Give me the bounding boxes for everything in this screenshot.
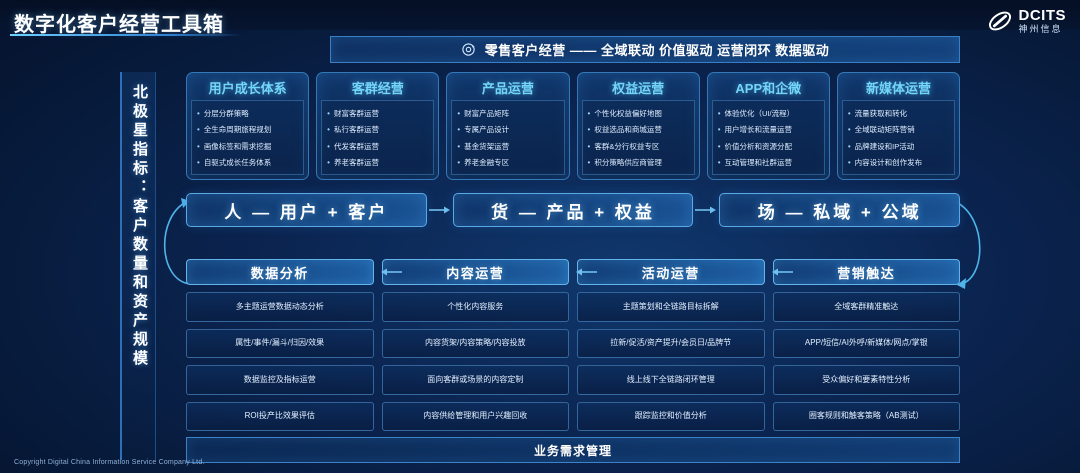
card-item: •分层分群策略: [197, 109, 300, 118]
column-header[interactable]: 数据分析: [186, 259, 374, 285]
capability-card-row: 用户成长体系 •分层分群策略 •全生命周期旅程规划 •画像标签和需求挖掘 •自驱…: [186, 72, 960, 180]
copyright-text: Copyright Digital China Information Serv…: [14, 459, 205, 466]
operations-grid: 数据分析 多主题运营数据动态分析 属性/事件/漏斗/归因/效果 数据监控及指标运…: [186, 259, 960, 431]
grid-cell[interactable]: 属性/事件/漏斗/归因/效果: [186, 329, 374, 359]
grid-cell-label: 全域客群精准触达: [834, 302, 898, 312]
top-banner: 零售客户经营 —— 全域联动 价值驱动 运营闭环 数据驱动: [330, 36, 960, 63]
grid-cell-label: APP/短信/AI外呼/新媒体/网点/掌银: [805, 338, 928, 348]
bullet-icon: •: [718, 125, 721, 134]
card-item: •品牌建设和IP活动: [848, 142, 951, 151]
bullet-icon: •: [457, 109, 460, 118]
capability-card[interactable]: 客群经营 •财富客群运营 •私行客群运营 •代发客群运营 •养老客群运营: [316, 72, 439, 180]
bullet-icon: •: [588, 142, 591, 151]
column-header-label: 内容运营: [446, 263, 504, 282]
capability-card[interactable]: APP和企微 •体验优化（UI/流程） •用户增长和流量运营 •价值分析和资源分…: [707, 72, 830, 180]
card-item-label: 财富产品矩阵: [464, 109, 509, 118]
card-item-label: 画像标签和需求挖掘: [204, 142, 272, 151]
dcits-swirl-icon: [987, 8, 1013, 34]
grid-cell-label: ROI投产比效果评估: [245, 411, 315, 421]
card-item: •画像标签和需求挖掘: [197, 142, 300, 151]
grid-cell[interactable]: 跟踪监控和价值分析: [577, 402, 765, 432]
card-item-label: 分层分群策略: [204, 109, 249, 118]
arrow-right-icon: [427, 204, 453, 216]
grid-cell-label: 受众偏好和要素特性分析: [822, 375, 910, 385]
card-title: APP和企微: [735, 78, 801, 97]
north-star-label: 北极星指标：客户数量和资产规模: [126, 84, 150, 369]
flow-bar-label: 人 — 用户 + 客户: [224, 198, 388, 223]
card-item-label: 体验优化（UI/流程）: [725, 109, 795, 118]
arrow-right-icon: [693, 204, 719, 216]
card-item-label: 个性化权益偏好地图: [594, 109, 662, 118]
bullet-icon: •: [588, 109, 591, 118]
grid-cell-label: 个性化内容服务: [447, 302, 503, 312]
flow-bar-goods[interactable]: 货 — 产品 + 权益: [453, 193, 694, 227]
grid-column-content-ops: 内容运营 个性化内容服务 内容货架/内容策略/内容投放 面向客群或场景的内容定制…: [382, 259, 570, 431]
card-item: •专属产品设计: [457, 125, 560, 134]
card-item: •代发客群运营: [327, 142, 430, 151]
card-item: •自驱式成长任务体系: [197, 158, 300, 167]
bullet-icon: •: [197, 109, 200, 118]
grid-cell[interactable]: 内容供给管理和用户兴趣回收: [382, 402, 570, 432]
card-item-label: 价值分析和资源分配: [725, 142, 793, 151]
card-item-label: 专属产品设计: [464, 125, 509, 134]
card-item-label: 自驱式成长任务体系: [204, 158, 272, 167]
column-header-label: 营销触达: [837, 263, 895, 282]
bullet-icon: •: [588, 158, 591, 167]
grid-cell[interactable]: 全域客群精准触达: [773, 292, 961, 322]
grid-cell[interactable]: 个性化内容服务: [382, 292, 570, 322]
capability-card[interactable]: 用户成长体系 •分层分群策略 •全生命周期旅程规划 •画像标签和需求挖掘 •自驱…: [186, 72, 309, 180]
bottom-bar[interactable]: 业务需求管理: [186, 437, 960, 463]
grid-cell[interactable]: 多主题运营数据动态分析: [186, 292, 374, 322]
column-header[interactable]: 内容运营: [382, 259, 570, 285]
bullet-icon: •: [718, 158, 721, 167]
card-title: 权益运营: [612, 78, 664, 97]
card-item-label: 养老金融专区: [464, 158, 509, 167]
flow-bar-field[interactable]: 场 — 私域 + 公域: [719, 193, 960, 227]
card-item: •权益选品和商城运营: [588, 125, 691, 134]
card-item-label: 流量获取和转化: [855, 109, 908, 118]
bullet-icon: •: [327, 142, 330, 151]
card-item: •私行客群运营: [327, 125, 430, 134]
card-title: 用户成长体系: [209, 78, 287, 97]
grid-cell[interactable]: 圈客规则和触客策略（AB测试）: [773, 402, 961, 432]
bullet-icon: •: [588, 125, 591, 134]
bullet-icon: •: [457, 125, 460, 134]
target-cycle-icon: [461, 42, 476, 57]
card-item: •个性化权益偏好地图: [588, 109, 691, 118]
card-title: 产品运营: [482, 78, 534, 97]
card-item: •养老金融专区: [457, 158, 560, 167]
grid-cell-label: 面向客群或场景的内容定制: [427, 375, 523, 385]
capability-card[interactable]: 新媒体运营 •流量获取和转化 •全域联动矩阵营销 •品牌建设和IP活动 •内容设…: [837, 72, 960, 180]
card-body: •分层分群策略 •全生命周期旅程规划 •画像标签和需求挖掘 •自驱式成长任务体系: [191, 100, 304, 175]
grid-cell[interactable]: APP/短信/AI外呼/新媒体/网点/掌银: [773, 329, 961, 359]
grid-column-campaign-ops: 活动运营 主题策划和全链路目标拆解 拉新/促活/资产提升/会员日/品牌节 线上线…: [577, 259, 765, 431]
card-item-label: 品牌建设和IP活动: [855, 142, 915, 151]
card-item-label: 全域联动矩阵营销: [855, 125, 915, 134]
grid-cell[interactable]: 数据监控及指标运营: [186, 365, 374, 395]
flow-bar-label: 货 — 产品 + 权益: [491, 198, 655, 223]
card-item: •基金货架运营: [457, 142, 560, 151]
card-item-label: 私行客群运营: [334, 125, 379, 134]
card-item: •内容设计和创作发布: [848, 158, 951, 167]
card-item-label: 用户增长和流量运营: [725, 125, 793, 134]
bullet-icon: •: [848, 125, 851, 134]
grid-cell-label: 多主题运营数据动态分析: [236, 302, 324, 312]
card-item: •积分策略供应商管理: [588, 158, 691, 167]
card-item: •财富产品矩阵: [457, 109, 560, 118]
logo-text-en: DCITS: [1019, 8, 1067, 23]
column-header-label: 数据分析: [251, 263, 309, 282]
brand-logo: DCITS 神州信息: [987, 8, 1067, 34]
card-body: •流量获取和转化 •全域联动矩阵营销 •品牌建设和IP活动 •内容设计和创作发布: [842, 100, 955, 175]
card-item-label: 内容设计和创作发布: [855, 158, 923, 167]
card-body: •财富客群运营 •私行客群运营 •代发客群运营 •养老客群运营: [321, 100, 434, 175]
grid-cell-label: 圈客规则和触客策略（AB测试）: [809, 411, 924, 421]
flow-bar-label: 场 — 私域 + 公域: [758, 198, 922, 223]
bullet-icon: •: [197, 125, 200, 134]
card-item-label: 客群&分行权益专区: [594, 142, 659, 151]
arrow-left-icon: [378, 266, 404, 278]
card-item: •客群&分行权益专区: [588, 142, 691, 151]
grid-cell-label: 拉新/促活/资产提升/会员日/品牌节: [610, 338, 731, 348]
bullet-icon: •: [718, 142, 721, 151]
column-header[interactable]: 营销触达: [773, 259, 961, 285]
page-title: 数字化客户经营工具箱: [14, 8, 224, 37]
bottom-bar-label: 业务需求管理: [534, 442, 612, 459]
grid-cell[interactable]: 面向客群或场景的内容定制: [382, 365, 570, 395]
grid-cell[interactable]: 线上线下全链路闭环管理: [577, 365, 765, 395]
flow-bar-row: 人 — 用户 + 客户 货 — 产品 + 权益 场 — 私域 + 公域: [186, 193, 960, 227]
grid-cell[interactable]: 拉新/促活/资产提升/会员日/品牌节: [577, 329, 765, 359]
bullet-icon: •: [848, 109, 851, 118]
bullet-icon: •: [848, 142, 851, 151]
grid-cell[interactable]: 受众偏好和要素特性分析: [773, 365, 961, 395]
card-item-label: 财富客群运营: [334, 109, 379, 118]
column-header-label: 活动运营: [642, 263, 700, 282]
grid-column-data-analysis: 数据分析 多主题运营数据动态分析 属性/事件/漏斗/归因/效果 数据监控及指标运…: [186, 259, 374, 431]
arrow-left-icon: [769, 266, 795, 278]
bullet-icon: •: [457, 142, 460, 151]
grid-cell-label: 主题策划和全链路目标拆解: [623, 302, 719, 312]
grid-cell-label: 属性/事件/漏斗/归因/效果: [235, 338, 324, 348]
card-item-label: 互动管理和社群运营: [725, 158, 793, 167]
card-item-label: 积分策略供应商管理: [594, 158, 662, 167]
card-item-label: 养老客群运营: [334, 158, 379, 167]
card-item: •体验优化（UI/流程）: [718, 109, 821, 118]
card-item: •价值分析和资源分配: [718, 142, 821, 151]
column-header[interactable]: 活动运营: [577, 259, 765, 285]
grid-cell-label: 内容供给管理和用户兴趣回收: [423, 411, 527, 421]
capability-card[interactable]: 产品运营 •财富产品矩阵 •专属产品设计 •基金货架运营 •养老金融专区: [446, 72, 569, 180]
card-item: •全生命周期旅程规划: [197, 125, 300, 134]
bullet-icon: •: [848, 158, 851, 167]
grid-cell-label: 跟踪监控和价值分析: [635, 411, 707, 421]
card-item: •全域联动矩阵营销: [848, 125, 951, 134]
bullet-icon: •: [327, 109, 330, 118]
card-item: •流量获取和转化: [848, 109, 951, 118]
bullet-icon: •: [197, 158, 200, 167]
bullet-icon: •: [457, 158, 460, 167]
grid-cell[interactable]: ROI投产比效果评估: [186, 402, 374, 432]
bullet-icon: •: [197, 142, 200, 151]
bullet-icon: •: [327, 125, 330, 134]
logo-text-cn: 神州信息: [1019, 25, 1067, 34]
grid-cell[interactable]: 内容货架/内容策略/内容投放: [382, 329, 570, 359]
grid-cell-label: 线上线下全链路闭环管理: [627, 375, 715, 385]
banner-text: 零售客户经营 —— 全域联动 价值驱动 运营闭环 数据驱动: [485, 40, 830, 59]
capability-card[interactable]: 权益运营 •个性化权益偏好地图 •权益选品和商城运营 •客群&分行权益专区 •积…: [577, 72, 700, 180]
card-item: •用户增长和流量运营: [718, 125, 821, 134]
bullet-icon: •: [327, 158, 330, 167]
card-item-label: 基金货架运营: [464, 142, 509, 151]
title-underline: [10, 34, 242, 36]
grid-column-marketing-reach: 营销触达 全域客群精准触达 APP/短信/AI外呼/新媒体/网点/掌银 受众偏好…: [773, 259, 961, 431]
card-item: •财富客群运营: [327, 109, 430, 118]
card-title: 客群经营: [352, 78, 404, 97]
flow-bar-people[interactable]: 人 — 用户 + 客户: [186, 193, 427, 227]
card-item-label: 全生命周期旅程规划: [204, 125, 272, 134]
grid-cell[interactable]: 主题策划和全链路目标拆解: [577, 292, 765, 322]
card-item: •互动管理和社群运营: [718, 158, 821, 167]
slide-canvas: 数字化客户经营工具箱 DCITS 神州信息 北极星指标：客户数量和资产规模 零售…: [0, 0, 1080, 473]
card-item-label: 权益选品和商城运营: [594, 125, 662, 134]
card-title: 新媒体运营: [866, 78, 931, 97]
bullet-icon: •: [718, 109, 721, 118]
grid-cell-label: 数据监控及指标运营: [244, 375, 316, 385]
card-item: •养老客群运营: [327, 158, 430, 167]
card-item-label: 代发客群运营: [334, 142, 379, 151]
card-body: •个性化权益偏好地图 •权益选品和商城运营 •客群&分行权益专区 •积分策略供应…: [582, 100, 695, 175]
card-body: •财富产品矩阵 •专属产品设计 •基金货架运营 •养老金融专区: [451, 100, 564, 175]
grid-cell-label: 内容货架/内容策略/内容投放: [425, 338, 525, 348]
arrow-left-icon: [573, 266, 599, 278]
card-body: •体验优化（UI/流程） •用户增长和流量运营 •价值分析和资源分配 •互动管理…: [712, 100, 825, 175]
